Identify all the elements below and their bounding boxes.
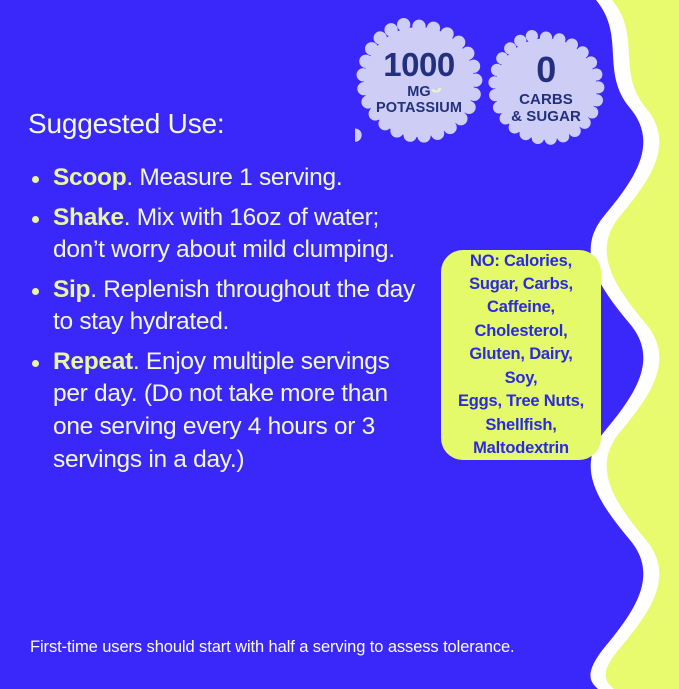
- list-item: Scoop. Measure 1 serving.: [28, 162, 428, 195]
- step-label: Scoop: [53, 164, 126, 191]
- per-serving-caption-carbs: Per Serving: [505, 0, 640, 94]
- bullet-dot-icon: [32, 216, 39, 223]
- free-from-callout-box: NO: Calories, Sugar, Carbs, Caffeine, Ch…: [441, 250, 601, 460]
- step-text: . Measure 1 serving.: [126, 164, 342, 191]
- badge-carbs-unit-line1: CARBS: [511, 92, 581, 109]
- free-from-list-text: NO: Calories, Sugar, Carbs, Caffeine, Ch…: [441, 250, 601, 461]
- list-item: Repeat. Enjoy multiple servings per day.…: [28, 346, 428, 476]
- bullet-dot-icon: [32, 176, 39, 183]
- bullet-dot-icon: [32, 288, 39, 295]
- steps-list: Scoop. Measure 1 serving. Shake. Mix wit…: [28, 162, 428, 476]
- step-label: Shake: [53, 204, 124, 231]
- list-item: Sip. Replenish throughout the day to sta…: [28, 274, 428, 339]
- product-info-panel: Per Serving Per Serving: [0, 0, 679, 689]
- badge-carbs-unit: CARBS & SUGAR: [511, 92, 581, 126]
- page-title: Suggested Use:: [28, 108, 428, 140]
- badge-carbs-unit-line2: & SUGAR: [511, 109, 581, 126]
- tolerance-disclaimer: First-time users should start with half …: [30, 638, 630, 657]
- badge-potassium-value: 1000: [383, 48, 454, 81]
- step-label: Sip: [53, 276, 90, 303]
- per-serving-caption-potassium-text: Per Serving: [326, 88, 443, 93]
- bullet-dot-icon: [32, 360, 39, 367]
- step-label: Repeat: [53, 348, 133, 375]
- list-item: Shake. Mix with 16oz of water; don’t wor…: [28, 202, 428, 267]
- suggested-use-section: Suggested Use: Scoop. Measure 1 serving.…: [28, 108, 428, 483]
- step-text: . Replenish throughout the day to stay h…: [53, 276, 415, 336]
